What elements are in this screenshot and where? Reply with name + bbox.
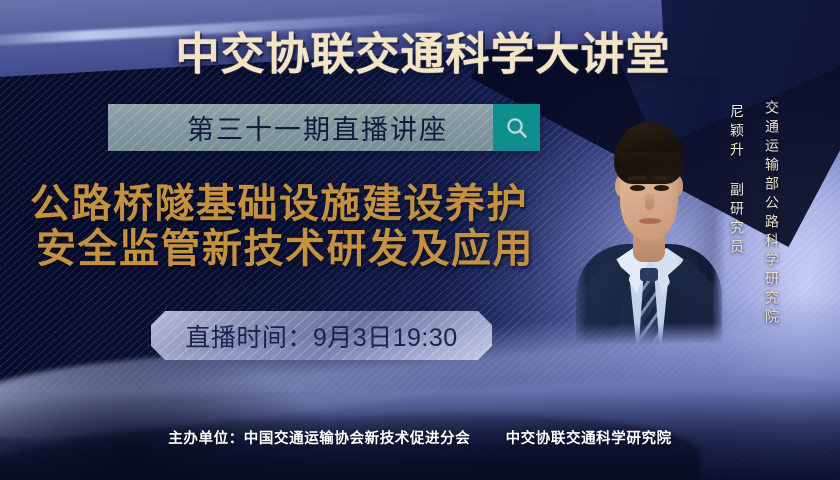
portrait-mouth	[639, 218, 661, 224]
portrait-tie-knot	[640, 268, 658, 281]
broadcast-time-text: 直播时间：9月3日19:30	[185, 318, 457, 354]
live-lecture-poster: 中交协联交通科学大讲堂 第三十一期直播讲座 公路桥隧基础设施建设养护 安全监管新…	[0, 0, 840, 480]
search-icon	[504, 115, 530, 141]
footer-organizers: 主办单位：中国交通运输协会新技术促进分会 中交协联交通科学研究院	[0, 427, 840, 448]
subtitle-text: 第三十一期直播讲座	[153, 108, 448, 147]
headline-line-2: 安全监管新技术研发及应用	[30, 227, 534, 272]
speaker-portrait	[572, 76, 726, 344]
headline-line-1: 公路桥隧基础设施建设养护	[30, 182, 528, 226]
subtitle-bar: 第三十一期直播讲座	[108, 104, 540, 151]
subtitle-bar-background: 第三十一期直播讲座	[108, 104, 493, 151]
footer-organizer-primary: 主办单位：中国交通运输协会新技术促进分会	[168, 431, 470, 447]
portrait-eye-left	[630, 185, 645, 191]
portrait-nose	[645, 194, 654, 210]
page-title: 中交协联交通科学大讲堂	[0, 18, 840, 82]
portrait-eye-right	[654, 185, 669, 191]
lecture-headline: 公路桥隧基础设施建设养护 安全监管新技术研发及应用	[30, 182, 534, 272]
broadcast-time-badge: 直播时间：9月3日19:30	[151, 311, 492, 360]
search-button[interactable]	[493, 104, 540, 151]
speaker-name-title: 尼颖升 副研究员	[727, 104, 747, 258]
speaker-organization: 交通运输部公路科学研究院	[762, 100, 782, 328]
footer-organizer-secondary: 中交协联交通科学研究院	[506, 431, 672, 447]
